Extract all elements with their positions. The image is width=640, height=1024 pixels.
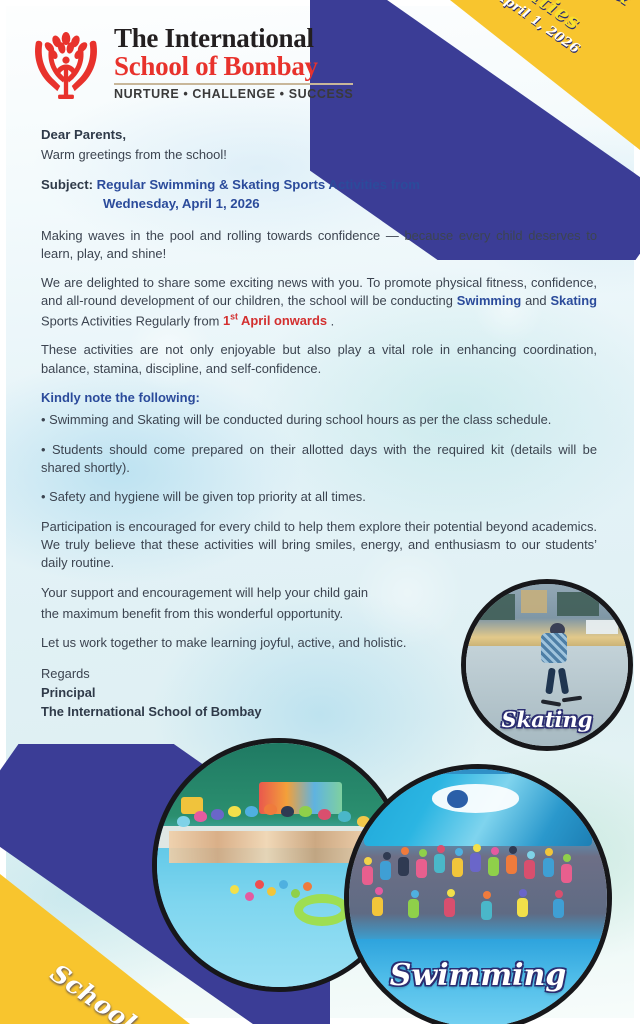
list-item: • Students should come prepared on their… — [41, 441, 597, 478]
announcement-paragraph: We are delighted to share some exciting … — [41, 274, 597, 330]
subject-value: Regular Swimming & Skating Sports Activi… — [97, 177, 420, 192]
school-emblem-icon — [30, 24, 102, 102]
logo-tagline: NURTURE • CHALLENGE • SUCCESS — [114, 88, 353, 101]
logo-divider — [114, 83, 353, 85]
skating-photo — [466, 584, 628, 746]
school-logo-header: The International School of Bombay NURTU… — [30, 24, 353, 102]
announcement-text-c: Sports Activities Regularly from — [41, 313, 223, 328]
poster-root: Regular Swimming & Skating Sports Activi… — [0, 0, 640, 1024]
greeting-line: Warm greetings from the school! — [41, 146, 597, 164]
subject-line: Subject: Regular Swimming & Skating Spor… — [41, 176, 597, 213]
school-name-block: The International School of Bombay NURTU… — [114, 25, 353, 101]
announcement-text-b: and — [521, 293, 550, 308]
start-date-ordinal: st — [230, 312, 238, 322]
logo-line-2: School of Bombay — [114, 53, 353, 80]
start-date-highlight: 1st April onwards — [223, 313, 327, 328]
swimming-photo — [349, 769, 607, 1024]
swimming-photo-circle: Swimming — [344, 764, 612, 1024]
list-item: • Swimming and Skating will be conducted… — [41, 411, 597, 429]
subject-label: Subject: — [41, 177, 93, 192]
intro-tagline-paragraph: Making waves in the pool and rolling tow… — [41, 227, 597, 264]
benefits-paragraph: These activities are not only enjoyable … — [41, 341, 597, 378]
note-heading: Kindly note the following: — [41, 389, 597, 407]
logo-line-1: The International — [114, 25, 353, 52]
announcement-text-d: . — [327, 313, 334, 328]
participation-paragraph: Participation is encouraged for every ch… — [41, 518, 597, 573]
list-item: • Safety and hygiene will be given top p… — [41, 488, 597, 506]
subject-value-line2: Wednesday, April 1, 2026 — [103, 195, 597, 214]
salutation: Dear Parents, — [41, 126, 597, 145]
start-date-rest: April onwards — [238, 313, 327, 328]
skating-photo-circle: Skating — [461, 579, 633, 751]
keyword-skating: Skating — [550, 293, 597, 308]
keyword-swimming: Swimming — [457, 293, 521, 308]
